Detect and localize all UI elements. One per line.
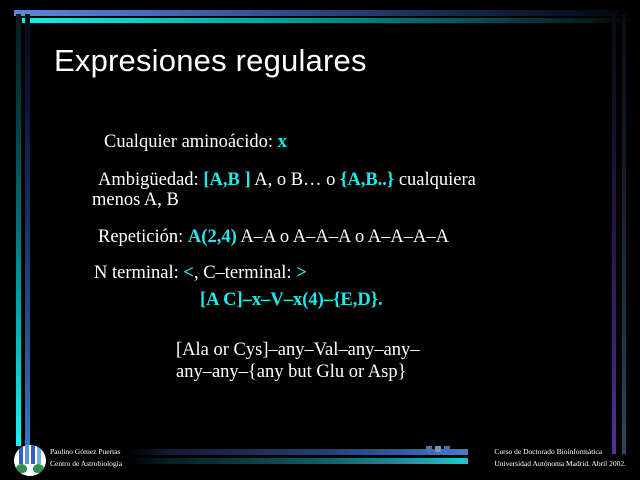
bullet-2-mid: A, o B… o xyxy=(251,170,340,190)
bullet-2-tail: cualquiera xyxy=(394,170,476,190)
bullet-4-code-n-terminal: < xyxy=(183,263,194,283)
bullet-repetition: Repetición: A(2,4) A–A o A–A–A o A–A–A–A xyxy=(0,228,640,248)
bullet-ambiguity-wrap: menos A, B xyxy=(0,191,640,211)
bullet-2-code-brace: {A,B..} xyxy=(340,170,394,190)
bullet-4-label: N terminal: xyxy=(94,263,183,283)
bullet-ambiguity: Ambigüedad: [A,B ] A, o B… o {A,B..} cua… xyxy=(0,171,640,191)
top-border-blue xyxy=(14,10,634,16)
slide: Expresiones regulares Cualquier aminoáci… xyxy=(0,0,640,480)
footer-rule-teal xyxy=(128,458,468,464)
page-title: Expresiones regulares xyxy=(54,43,367,79)
example-expansion-line-1: [Ala or Cys]–any–Val–any–any– xyxy=(176,339,640,362)
logo-bars-icon xyxy=(18,445,42,465)
bullet-3-code: A(2,4) xyxy=(188,227,237,247)
bullet-2-code-bracket: [A,B ] xyxy=(203,170,250,190)
footer-course-venue: Universidad Autónoma Madrid. Abril 2002. xyxy=(494,458,626,470)
logo-leaves-icon xyxy=(16,463,44,473)
example-pattern: [A C]–x–V–x(4)–{E,D}. xyxy=(0,290,640,311)
slide-footer: Paulino Gómez Puertas Centro de Astrobio… xyxy=(0,444,640,478)
bullet-3-tail: A–A o A–A–A o A–A–A–A xyxy=(237,227,449,247)
bullet-1-code: x xyxy=(278,132,287,152)
bullet-any-aminoacid: Cualquier aminoácido: x xyxy=(0,133,640,153)
example-expansion-line-2: any–any–{any but Glu or Asp} xyxy=(176,361,640,384)
top-border-cyan xyxy=(22,18,634,23)
bullet-terminals: N terminal: <, C–terminal: > xyxy=(0,264,640,284)
footer-rule-blue xyxy=(128,449,468,455)
footer-author-name: Paulino Gómez Puertas xyxy=(50,446,122,458)
institution-logo xyxy=(14,445,46,476)
footer-course: Curso de Doctorado Bioinformática Univer… xyxy=(494,446,626,469)
footer-author-org: Centro de Astrobiología xyxy=(50,458,122,470)
example-expansion: [Ala or Cys]–any–Val–any–any– any–any–{a… xyxy=(0,339,640,384)
bullet-1-label: Cualquier aminoácido: xyxy=(104,132,278,152)
footer-dots-icon xyxy=(426,446,452,453)
bullet-4-mid: , C–terminal: xyxy=(194,263,296,283)
bullet-2-label: Ambigüedad: xyxy=(98,170,203,190)
footer-course-name: Curso de Doctorado Bioinformática xyxy=(494,446,626,458)
footer-author: Paulino Gómez Puertas Centro de Astrobio… xyxy=(50,446,122,469)
bullet-3-label: Repetición: xyxy=(98,227,188,247)
slide-content: Cualquier aminoácido: x Ambigüedad: [A,B… xyxy=(0,133,640,384)
bullet-4-code-c-terminal: > xyxy=(296,263,307,283)
